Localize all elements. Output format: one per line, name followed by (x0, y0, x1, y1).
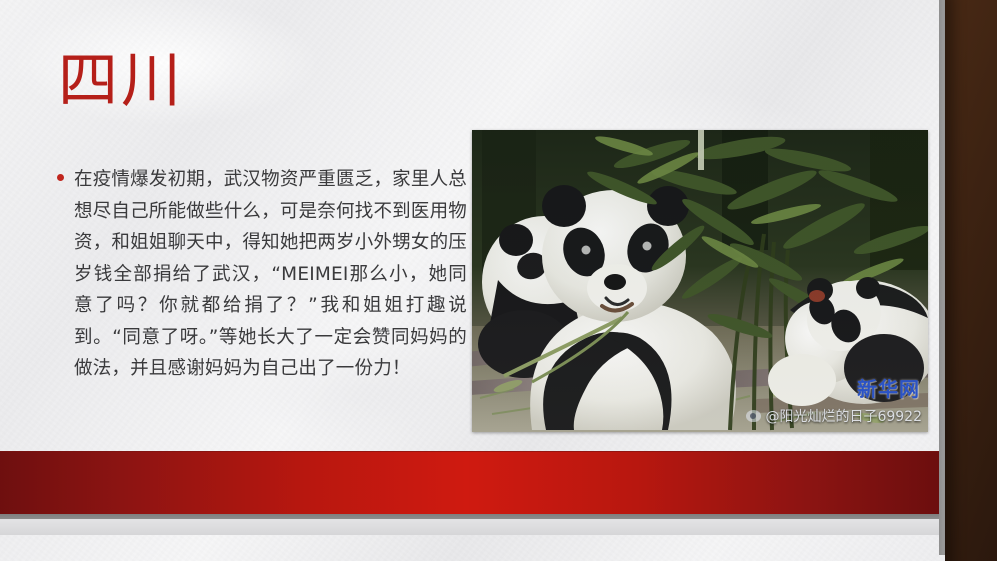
bullet-marker-icon (57, 174, 64, 181)
xinhua-watermark: 新华网 (857, 373, 920, 402)
decorative-red-band (0, 451, 939, 514)
weibo-watermark: @阳光灿烂的日子69922 (746, 406, 922, 426)
bullet-text: 在疫情爆发初期，武汉物资严重匮乏，家里人总想尽自己所能做些什么，可是奈何找不到医… (74, 164, 467, 385)
slide-body: 在疫情爆发初期，武汉物资严重匮乏，家里人总想尽自己所能做些什么，可是奈何找不到医… (57, 164, 467, 385)
weibo-eye-icon (746, 410, 761, 422)
bullet-item: 在疫情爆发初期，武汉物资严重匮乏，家里人总想尽自己所能做些什么，可是奈何找不到医… (57, 164, 467, 385)
slide-title: 四川 (58, 50, 184, 114)
decorative-red-band-topline (0, 451, 939, 452)
decorative-light-band (0, 519, 939, 535)
weibo-handle: @阳光灿烂的日子69922 (765, 406, 922, 426)
slide-canvas: 四川 在疫情爆发初期，武汉物资严重匮乏，家里人总想尽自己所能做些什么，可是奈何找… (0, 0, 945, 561)
panda-photo: 新华网 @阳光灿烂的日子69922 (472, 130, 928, 432)
slide-right-border (939, 0, 945, 555)
presentation-stage: 四川 在疫情爆发初期，武汉物资严重匮乏，家里人总想尽自己所能做些什么，可是奈何找… (0, 0, 997, 561)
